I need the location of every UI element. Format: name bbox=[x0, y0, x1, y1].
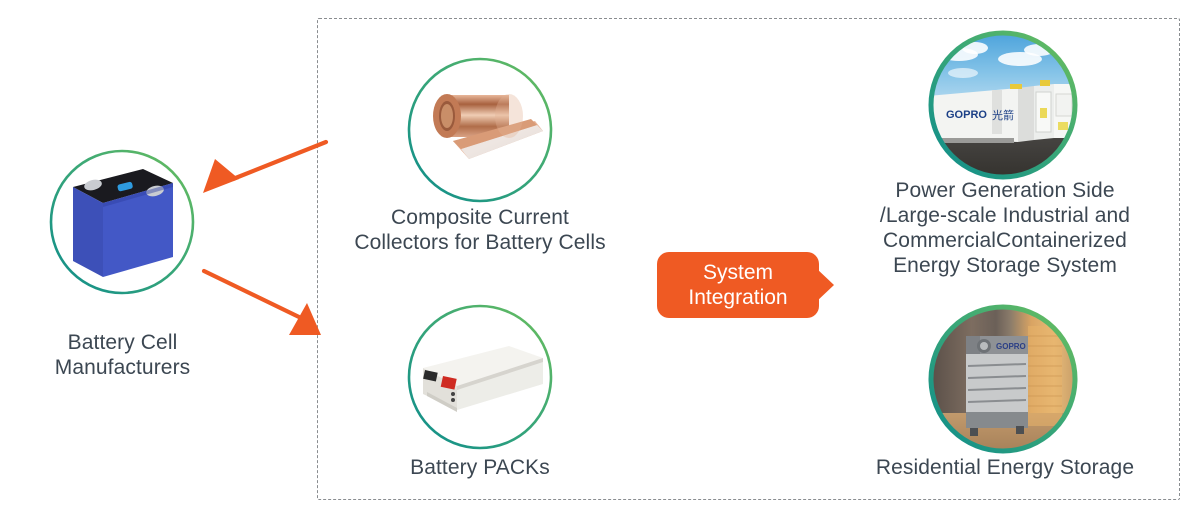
gradient-ring bbox=[928, 304, 1078, 454]
battery-packs-label: Battery PACKs bbox=[380, 455, 580, 480]
arrow-to-battery-packs bbox=[195, 265, 335, 343]
battery-packs-node[interactable] bbox=[407, 304, 553, 450]
diagram-canvas: Battery Cell Manufacturers bbox=[0, 0, 1200, 517]
composite-current-collectors-label: Composite Current Collectors for Battery… bbox=[335, 205, 625, 255]
residential-storage-node[interactable]: GOPRO bbox=[928, 304, 1078, 454]
composite-current-collectors-node[interactable] bbox=[407, 57, 553, 203]
residential-storage-label: Residential Energy Storage bbox=[840, 455, 1170, 480]
copper-foil-roll-icon bbox=[417, 81, 543, 181]
arrow-to-composite-collectors bbox=[195, 135, 335, 200]
system-integration-badge[interactable]: System Integration bbox=[657, 252, 819, 318]
battery-pack-box-icon bbox=[413, 340, 549, 420]
prismatic-battery-cell-icon bbox=[67, 165, 179, 281]
utility-scale-storage-node[interactable]: GOPRO 光箭 bbox=[928, 30, 1078, 180]
battery-cell-manufacturers-node[interactable] bbox=[49, 149, 195, 295]
gradient-ring bbox=[928, 30, 1078, 180]
utility-scale-storage-label: Power Generation Side /Large-scale Indus… bbox=[855, 178, 1155, 278]
